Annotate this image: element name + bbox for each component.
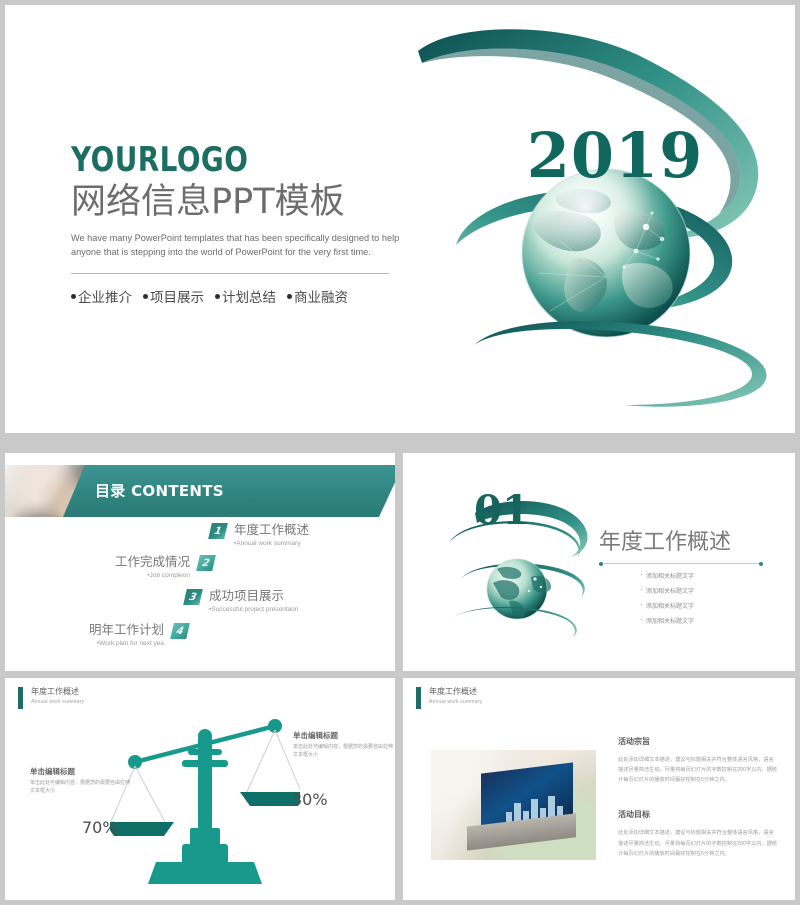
tag-item: 计划总结 [215,286,276,306]
left-caption: 单击编辑标题 单击此处可编辑内容，根据您的需要自由拉伸文本框大小 [30,766,134,795]
item-subtitle: •Work plan for next yea [89,640,164,647]
list-item[interactable]: 3 成功项目展示 •Successful project presentaon [185,589,298,613]
tag-list: 企业推介 项目展示 计划总结 商业融资 [71,286,441,306]
item-text: 年度工作概述 •Annual work summary [234,523,309,547]
tag-item: 商业融资 [287,286,348,306]
item-text: 工作完成情况 •Job compleon [115,555,190,579]
item-text: 成功项目展示 •Successful project presentaon [209,589,298,613]
tag-label: 商业融资 [294,286,348,306]
text-block: 活动目标 此处添加详细文本描述，建议与标题相关并符合整体语言风格，语言描述尽量简… [618,809,778,858]
tag-label: 计划总结 [222,286,276,306]
slide-header-subtitle: Annual work summary [429,699,482,705]
slide-header-title: 年度工作概述 [31,687,84,697]
section-bullet-list: 添加相关标题文字 添加相关标题文字 添加相关标题文字 添加相关标题文字 [599,571,795,631]
right-percent-value: 30% [292,790,328,809]
item-number-badge: 2 [196,555,216,571]
block-heading: 活动目标 [618,809,778,820]
item-title: 成功项目展示 [209,589,298,603]
item-title: 工作完成情况 [115,555,190,569]
laptop-photo [431,750,596,860]
contents-title: 目录 CONTENTS [95,480,224,501]
bullet-dot-icon [215,294,220,299]
item-text: 明年工作计划 •Work plan for next yea [89,623,164,647]
list-item: 添加相关标题文字 [639,601,731,610]
accent-bar [416,687,421,709]
text-block: 活动宗旨 此处添加详细文本描述，建议与标题相关并符合整体语言风格，语言描述尽量简… [618,736,778,785]
slide-deck-preview: YOURLOGO 网络信息PPT模板 We have many PowerPoi… [0,0,800,905]
list-item: 添加相关标题文字 [639,586,731,595]
list-item: 添加相关标题文字 [639,616,731,625]
slide-header-subtitle: Annual work summary [31,699,84,705]
slide-header: 年度工作概述 Annual work summary [416,687,482,709]
caption-heading: 单击编辑标题 [293,730,395,741]
slide-section-divider[interactable]: 01 年度工作概述 添加相关标题文字 添加相关标题文字 添加相关标题文字 添加相… [403,453,795,671]
bullet-dot-icon [71,294,76,299]
right-caption: 单击编辑标题 单击此处可编辑内容，根据您的需要自由拉伸文本框大小 [293,730,395,759]
block-heading: 活动宗旨 [618,736,778,747]
block-body: 此处添加详细文本描述，建议与标题相关并符合整体语言风格，语言描述尽量简洁生动。尽… [618,755,778,785]
item-subtitle: •Successful project presentaon [209,606,298,613]
item-subtitle: •Job compleon [115,572,190,579]
globe-with-ribbons-icon: 2019 [410,15,795,430]
divider [599,563,763,564]
item-number-badge: 3 [183,589,203,605]
balance-scale-chart [110,716,300,891]
title-text-column: YOURLOGO 网络信息PPT模板 We have many PowerPoi… [71,143,441,306]
list-item[interactable]: 4 明年工作计划 •Work plan for next yea [89,623,188,647]
slide-header-title: 年度工作概述 [429,687,482,697]
bullet-dot-icon [287,294,292,299]
block-body: 此处添加详细文本描述，建议与标题相关并符合整体语言风格，语言描述尽量简洁生动。尽… [618,828,778,858]
list-item: 添加相关标题文字 [639,571,731,580]
section-number: 01 [457,491,547,531]
list-item[interactable]: 1 年度工作概述 •Annual work summary [210,523,309,547]
contents-banner: 目录 CONTENTS [5,465,395,517]
logo-text: YOURLOGO [71,143,374,177]
caption-body: 单击此处可编辑内容，根据您的需要自由拉伸文本框大小 [293,744,395,759]
slide-contents[interactable]: 目录 CONTENTS 1 年度工作概述 •Annual work summar… [5,453,395,671]
section-text-column: 年度工作概述 添加相关标题文字 添加相关标题文字 添加相关标题文字 添加相关标题… [599,531,769,647]
tag-label: 企业推介 [78,286,132,306]
item-number-badge: 4 [170,623,190,639]
caption-heading: 单击编辑标题 [30,766,134,777]
left-percent-value: 70% [82,818,118,837]
section-title: 年度工作概述 [599,531,769,555]
item-title: 年度工作概述 [234,523,309,537]
slide-balance-chart[interactable]: 年度工作概述 Annual work summary [5,678,395,900]
slide-image-text[interactable]: 年度工作概述 Annual work summary 活动宗旨 此处添加详细文本… [403,678,795,900]
bullet-dot-icon [143,294,148,299]
slide-header: 年度工作概述 Annual work summary [18,687,84,709]
divider [71,273,389,275]
tag-item: 项目展示 [143,286,204,306]
page-title: 网络信息PPT模板 [71,183,441,222]
item-subtitle: •Annual work summary [234,540,309,547]
item-title: 明年工作计划 [89,623,164,637]
accent-bar [18,687,23,709]
tag-label: 项目展示 [150,286,204,306]
year-label: 2019 [505,125,725,187]
slide-title[interactable]: YOURLOGO 网络信息PPT模板 We have many PowerPoi… [5,5,795,433]
contents-list: 1 年度工作概述 •Annual work summary 2 工作完成情况 •… [5,523,395,671]
text-column: 活动宗旨 此处添加详细文本描述，建议与标题相关并符合整体语言风格，语言描述尽量简… [618,736,778,883]
title-subtitle: We have many PowerPoint templates that h… [71,232,423,259]
caption-body: 单击此处可编辑内容，根据您的需要自由拉伸文本框大小 [30,780,134,795]
item-number-badge: 1 [208,523,228,539]
tag-item: 企业推介 [71,286,132,306]
list-item[interactable]: 2 工作完成情况 •Job compleon [115,555,214,579]
